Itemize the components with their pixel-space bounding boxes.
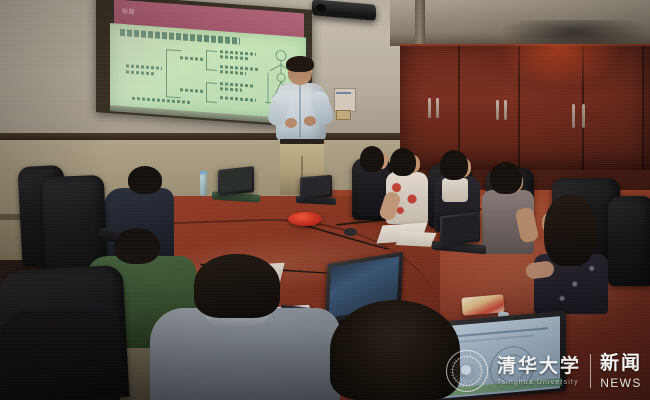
attendee-torso <box>0 310 120 400</box>
attendee-hair <box>490 162 522 194</box>
wall-trim <box>0 133 430 140</box>
slide-text-line <box>220 96 256 102</box>
ceiling-beam <box>415 0 425 46</box>
slide-text-line <box>220 70 246 75</box>
presenter-face-shading <box>288 72 312 84</box>
cabinet-handle-icon[interactable] <box>496 100 499 120</box>
wall-notice-line <box>336 92 351 94</box>
attendee-hair <box>194 254 280 318</box>
slide-text-line <box>220 87 242 92</box>
slide-text-line <box>126 64 162 70</box>
slide-text-line <box>126 70 156 75</box>
cabinet-handle-icon[interactable] <box>428 98 431 118</box>
seminar-photograph: 标题 <box>0 0 650 400</box>
laptop[interactable] <box>212 168 258 202</box>
presenter-belt <box>280 139 324 144</box>
presenter-shirt-placket <box>299 85 301 137</box>
chair-backrest <box>608 196 650 286</box>
loose-papers <box>395 231 436 247</box>
attendee-hair <box>330 300 460 400</box>
attendee-hair <box>440 150 468 180</box>
slide-brace-sub-a <box>206 50 217 71</box>
presenter-left-hand <box>285 118 297 128</box>
attendee-hair <box>544 194 596 266</box>
laptop-screen <box>442 214 478 243</box>
laptop-screen <box>220 168 252 192</box>
attendee-strap-top <box>442 178 468 202</box>
attendee-gray-blue-shirt <box>150 254 340 400</box>
red-bowl <box>288 212 322 226</box>
attendee-patterned-dress <box>534 194 608 314</box>
cabinet-seam <box>642 46 644 176</box>
slide-footnote-line <box>132 97 192 104</box>
computer-mouse[interactable] <box>344 228 357 236</box>
attendee-hair <box>360 146 384 172</box>
water-bottle <box>200 174 207 196</box>
slide-brace-sub-b <box>206 82 217 103</box>
slide-header-text: 标题 <box>122 6 135 16</box>
cabinet-seam <box>518 46 520 176</box>
slide-title-underline <box>120 29 240 45</box>
laptop[interactable] <box>432 214 484 254</box>
attendee-foreground-dark-hair <box>330 300 460 400</box>
projector-lens-icon <box>316 4 326 13</box>
slide-text-line <box>180 88 204 93</box>
cabinet-handle-icon[interactable] <box>504 100 507 120</box>
attendee-hair <box>128 166 162 194</box>
slide-brace-main <box>166 49 181 98</box>
cabinet-handle-icon[interactable] <box>572 104 575 128</box>
slide-text-line <box>220 55 248 60</box>
laptop[interactable] <box>296 176 336 204</box>
laptop-screen <box>302 177 330 196</box>
attendee-foreground-left <box>0 310 120 400</box>
attendee-hair <box>390 148 416 176</box>
presenter-hair <box>286 56 314 72</box>
presenter-right-hand <box>304 116 316 126</box>
slide-text-line <box>180 56 204 61</box>
attendee-floral-top <box>386 148 428 224</box>
cabinet-handle-icon[interactable] <box>436 98 439 118</box>
office-chair <box>608 196 650 292</box>
attendee-glasses-gray-tee <box>482 162 534 254</box>
cabinet-handle-icon[interactable] <box>582 104 585 128</box>
wall-socket-plate <box>336 110 351 120</box>
